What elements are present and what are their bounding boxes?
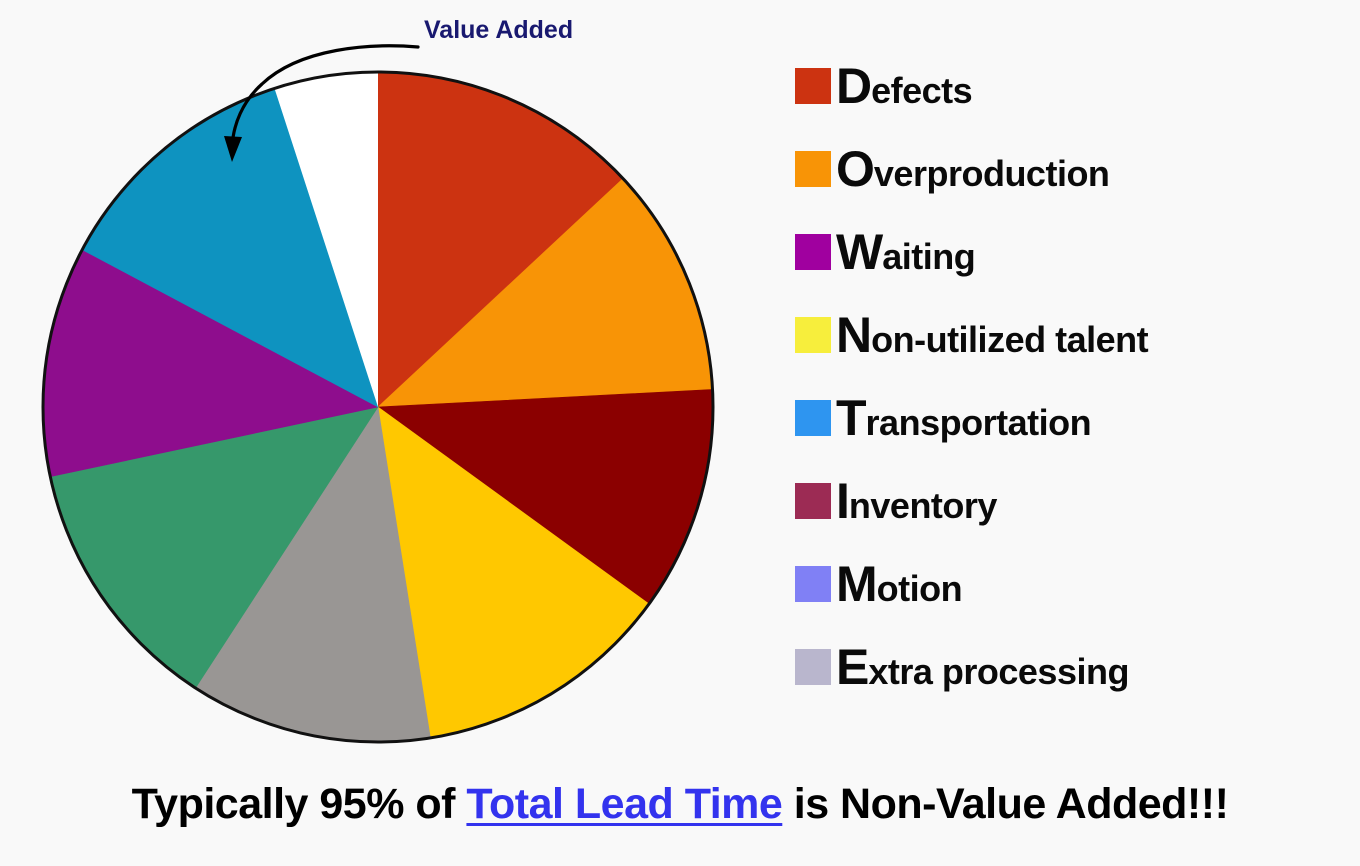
pie-chart-svg: Defects 13%Overproduction 11%Inventory 1… <box>0 0 760 780</box>
legend-swatch-icon <box>795 400 831 436</box>
legend-item-initial: M <box>836 556 877 612</box>
legend-item-label: Transportation <box>836 393 1091 443</box>
legend-swatch-icon <box>795 649 831 685</box>
total-lead-time-link[interactable]: Total Lead Time <box>466 780 782 828</box>
legend-swatch-icon <box>795 234 831 270</box>
legend-swatch-icon <box>795 483 831 519</box>
legend-item-rest: efects <box>871 70 972 111</box>
legend-item-rest: nventory <box>849 485 997 526</box>
caption-suffix: is Non-Value Added!!! <box>782 780 1228 828</box>
legend-item-initial: T <box>836 390 866 446</box>
legend-swatch-icon <box>795 151 831 187</box>
legend-item-label: Extra processing <box>836 642 1129 692</box>
caption-prefix: Typically 95% of <box>132 780 467 828</box>
legend-swatch-icon <box>795 566 831 602</box>
legend-item-rest: otion <box>877 568 962 609</box>
legend-item-non-utilized-talent[interactable]: Non-utilized talent <box>795 293 1345 376</box>
legend-item-initial: E <box>836 639 868 695</box>
legend-item-label: Overproduction <box>836 144 1109 194</box>
legend-item-inventory[interactable]: Inventory <box>795 459 1345 542</box>
legend-item-transportation[interactable]: Transportation <box>795 376 1345 459</box>
legend-item-initial: N <box>836 307 871 363</box>
legend-item-rest: aiting <box>882 236 975 277</box>
legend-swatch-icon <box>795 317 831 353</box>
legend-item-defects[interactable]: Defects <box>795 44 1345 127</box>
legend-item-label: Motion <box>836 559 962 609</box>
legend-item-initial: W <box>836 224 882 280</box>
legend-item-label: Non-utilized talent <box>836 310 1148 360</box>
legend-item-rest: xtra processing <box>868 651 1129 692</box>
legend-item-label: Inventory <box>836 476 997 526</box>
caption: Typically 95% of Total Lead Time is Non-… <box>0 780 1360 829</box>
legend-item-rest: ransportation <box>866 402 1092 443</box>
pie-chart-figure: Defects 13%Overproduction 11%Inventory 1… <box>0 0 760 780</box>
legend-item-label: Defects <box>836 61 972 111</box>
legend-item-waiting[interactable]: Waiting <box>795 210 1345 293</box>
legend-item-initial: O <box>836 141 874 197</box>
legend: DefectsOverproductionWaitingNon-utilized… <box>795 44 1345 708</box>
legend-swatch-icon <box>795 68 831 104</box>
legend-item-initial: I <box>836 473 849 529</box>
legend-item-overproduction[interactable]: Overproduction <box>795 127 1345 210</box>
legend-item-initial: D <box>836 58 871 114</box>
pie-slices-group: Defects 13%Overproduction 11%Inventory 1… <box>43 72 713 742</box>
legend-item-extra-processing[interactable]: Extra processing <box>795 625 1345 708</box>
legend-item-rest: verproduction <box>874 153 1110 194</box>
legend-item-label: Waiting <box>836 227 975 277</box>
legend-item-rest: on-utilized talent <box>871 319 1148 360</box>
legend-item-motion[interactable]: Motion <box>795 542 1345 625</box>
value-added-annotation-label: Value Added <box>424 16 573 45</box>
